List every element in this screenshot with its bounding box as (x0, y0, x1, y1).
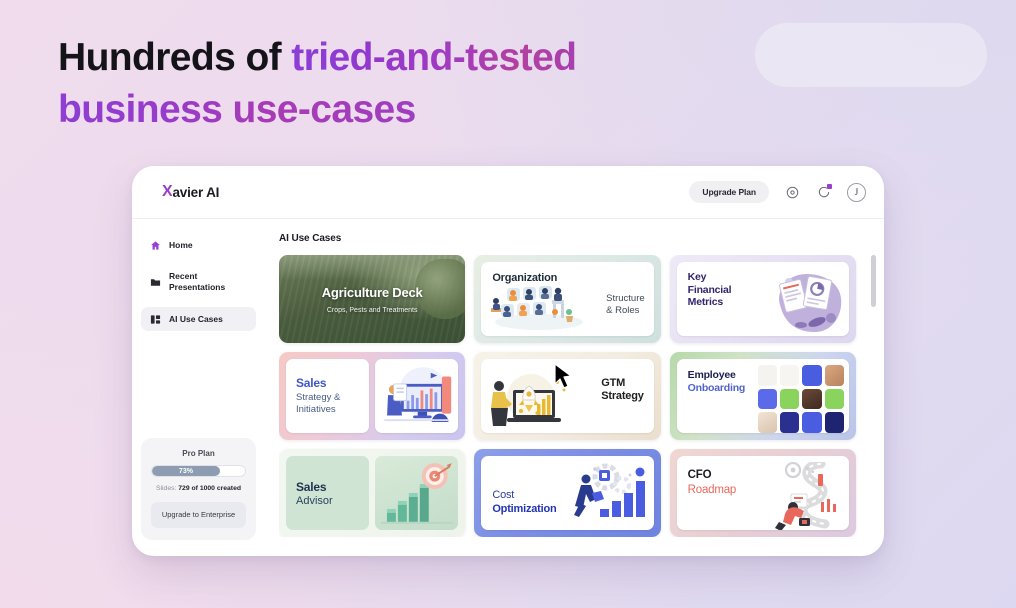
main-content: AI Use Cases Agriculture Deck Crops, Pes… (265, 219, 884, 556)
upgrade-plan-button[interactable]: Upgrade Plan (689, 181, 769, 203)
card-title: Sales (296, 480, 369, 494)
card-inner-tile: Key Financial Metrics (677, 262, 849, 336)
headline-line1-accent: tried-and-tested (291, 36, 576, 79)
gtm-rocket-illustration (487, 372, 573, 428)
app-logo[interactable]: Xavier AI (162, 184, 219, 200)
card-subtitle: Strategy & Initiatives (296, 392, 369, 416)
card-text-pane: Sales Advisor (286, 456, 369, 530)
card-inner-tile: Organization Structure & Roles (481, 262, 653, 336)
gear-icon[interactable] (783, 183, 801, 201)
avatar[interactable]: J (847, 183, 866, 202)
card-title: Key Financial Metrics (688, 271, 732, 309)
sidebar: Home Recent Presentations (132, 219, 265, 556)
sidebar-item-ai-use-cases[interactable]: AI Use Cases (141, 307, 256, 331)
use-case-card-agriculture-deck[interactable]: Agriculture Deck Crops, Pests and Treatm… (279, 255, 465, 343)
cfo-roadmap-illustration (763, 462, 845, 530)
onboarding-photo-mosaic (758, 365, 844, 433)
card-title-group: CFO Roadmap (688, 468, 736, 498)
use-case-card-cfo-roadmap[interactable]: CFO Roadmap (670, 449, 856, 537)
decorative-pill-shape (755, 23, 987, 87)
app-topbar: Xavier AI Upgrade Plan J (132, 166, 884, 219)
plan-progress-fill: 73% (152, 466, 220, 476)
home-icon (149, 239, 161, 251)
content-scrollbar[interactable] (871, 255, 876, 550)
plan-usage-card: Pro Plan 73% Slides: 729 of 1000 created… (141, 438, 256, 540)
card-inner-tile: Employee Onboarding (677, 359, 849, 433)
use-case-card-sales-strategy[interactable]: Sales Strategy & Initiatives (279, 352, 465, 440)
sidebar-item-home[interactable]: Home (141, 233, 256, 257)
growth-target-illustration (375, 456, 459, 530)
sidebar-item-recent-presentations[interactable]: Recent Presentations (141, 265, 256, 299)
sidebar-item-label: AI Use Cases (169, 314, 223, 325)
page-title: AI Use Cases (279, 233, 878, 244)
headline-line1-dark: Hundreds of (58, 36, 291, 79)
use-case-card-key-financial-metrics[interactable]: Key Financial Metrics (670, 255, 856, 343)
card-title: Cost (492, 489, 556, 503)
card-subtitle: Advisor (296, 495, 369, 507)
scrollbar-thumb[interactable] (871, 255, 876, 307)
card-subtitle: Onboarding (688, 382, 746, 395)
card-subtitle: Crops, Pests and Treatments (327, 307, 418, 314)
app-window-frame: Xavier AI Upgrade Plan J (132, 166, 884, 556)
card-subtitle: Roadmap (688, 483, 736, 498)
card-title: Agriculture Deck (322, 285, 423, 300)
use-case-card-cost-optimization[interactable]: Cost Optimization (474, 449, 660, 537)
sales-chart-illustration (375, 359, 459, 433)
card-subtitle: Structure & Roles (606, 293, 645, 317)
logo-x-mark: X (162, 184, 172, 200)
plan-progress-bar: 73% (151, 465, 246, 477)
plan-progress-label: 73% (179, 468, 193, 475)
plan-slides-usage: Slides: 729 of 1000 created (151, 484, 246, 493)
cost-optimization-illustration (570, 463, 648, 519)
card-inner-tile: CFO Roadmap (677, 456, 849, 530)
card-text-pane: Sales Strategy & Initiatives (286, 359, 369, 433)
financial-documents-illustration (771, 270, 843, 332)
upgrade-to-enterprise-button[interactable]: Upgrade to Enterprise (151, 502, 246, 528)
org-people-illustration (489, 282, 589, 330)
card-art-pane (375, 359, 459, 433)
card-title-group: Employee Onboarding (688, 369, 746, 395)
sidebar-item-label: Recent Presentations (169, 271, 248, 293)
sidebar-item-label: Home (169, 240, 193, 251)
card-subtitle: Optimization (492, 503, 556, 517)
use-case-card-sales-advisor[interactable]: Sales Advisor (279, 449, 465, 537)
plan-slides-value: 729 of 1000 created (178, 485, 241, 492)
card-art-pane (375, 456, 459, 530)
logo-text: avier AI (172, 185, 219, 200)
folder-icon (149, 276, 161, 288)
app-body: Home Recent Presentations (132, 219, 884, 556)
card-title: Sales (296, 376, 369, 390)
grid-icon (149, 313, 161, 325)
card-title-group: Cost Optimization (492, 489, 556, 516)
use-case-card-organization[interactable]: Organization Structure & Roles (474, 255, 660, 343)
card-inner-tile: Cost Optimization (481, 456, 653, 530)
plan-title: Pro Plan (151, 449, 246, 458)
notification-icon[interactable] (815, 183, 833, 201)
use-case-card-employee-onboarding[interactable]: Employee Onboarding (670, 352, 856, 440)
card-inner-tile: GTM Strategy (481, 359, 653, 433)
card-title: Employee (688, 369, 746, 382)
card-title: CFO (688, 468, 736, 483)
page-headline: Hundreds of tried-and-tested business us… (58, 32, 718, 136)
headline-line2-accent: business use-cases (58, 88, 416, 131)
topbar-actions: Upgrade Plan J (689, 181, 866, 203)
card-title: GTM Strategy (601, 377, 643, 403)
use-case-grid: Agriculture Deck Crops, Pests and Treatm… (279, 255, 878, 537)
notification-badge (827, 184, 832, 189)
plan-slides-prefix: Slides: (156, 485, 176, 492)
use-case-card-gtm-strategy[interactable]: GTM Strategy (474, 352, 660, 440)
